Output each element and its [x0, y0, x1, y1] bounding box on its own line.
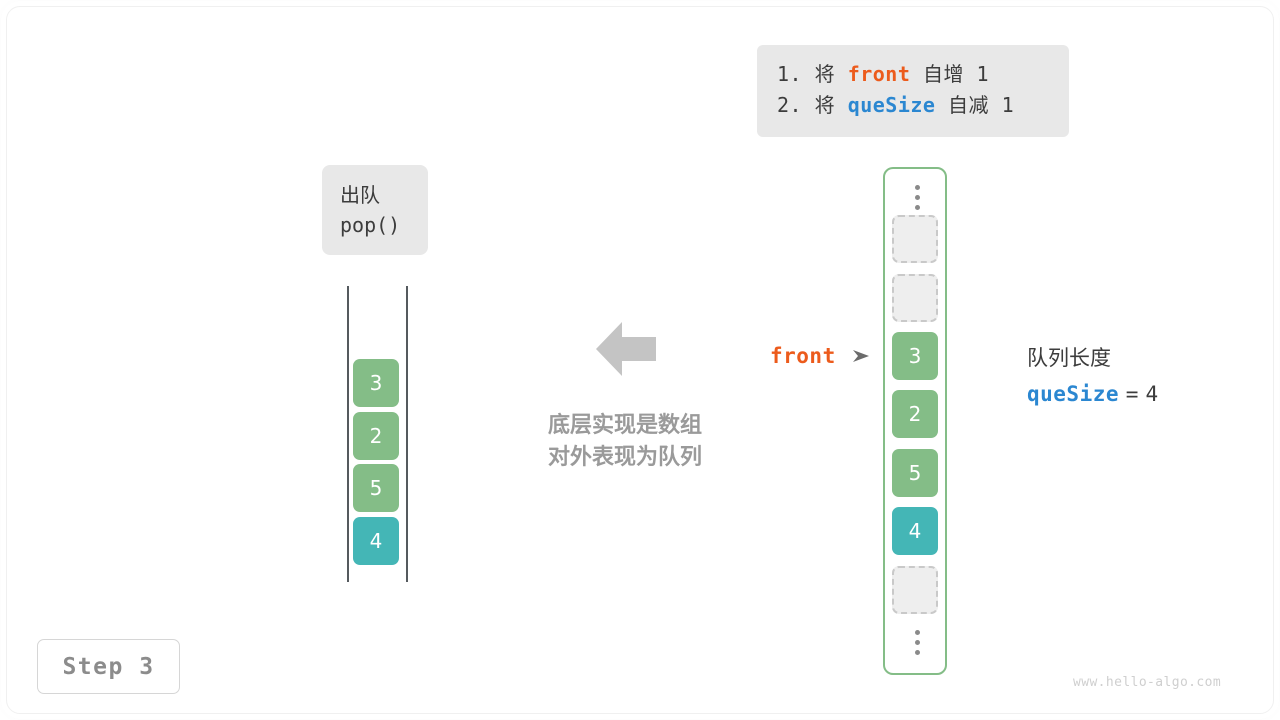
array-bottom-ellipsis-icon — [885, 630, 949, 655]
queue-cell-2-value: 5 — [370, 476, 383, 500]
array-container: 3 2 5 4 — [883, 167, 947, 675]
watermark: www.hello-algo.com — [1073, 675, 1221, 690]
array-cell-2: 3 — [892, 332, 938, 380]
instruction-2-before: 将 — [815, 93, 836, 117]
operation-label-box: 出队 pop() — [322, 165, 428, 255]
instruction-2-keyword: queSize — [848, 93, 936, 117]
queue-cell-1: 2 — [353, 412, 399, 460]
instruction-1-value: 1 — [977, 62, 990, 86]
diagram-canvas: 1. 将 front 自增 1 2. 将 queSize 自减 1 出队 pop… — [0, 0, 1280, 720]
instruction-1-before: 将 — [815, 62, 836, 86]
caption-line-1: 底层实现是数组 — [520, 410, 730, 442]
instruction-2-after: 自减 — [948, 93, 989, 117]
array-cell-3-value: 2 — [909, 402, 922, 426]
queue-size-expression: queSize = 4 — [1027, 377, 1159, 413]
queue-rail-right — [406, 286, 408, 582]
queue-cell-0: 3 — [353, 359, 399, 407]
step-badge-label: Step 3 — [62, 654, 154, 680]
instruction-line-2: 2. 将 queSize 自减 1 — [777, 90, 1049, 121]
array-cell-1 — [892, 274, 938, 322]
array-cell-5-value: 4 — [909, 519, 922, 543]
queue-cell-3: 4 — [353, 517, 399, 565]
operation-method: pop() — [340, 210, 400, 240]
front-arrowhead-icon — [853, 349, 869, 363]
caption-line-2: 对外表现为队列 — [520, 442, 730, 474]
instruction-2-index: 2. — [777, 93, 802, 117]
array-cell-3: 2 — [892, 390, 938, 438]
array-cell-4-value: 5 — [909, 461, 922, 485]
queue-cell-0-value: 3 — [370, 371, 383, 395]
instruction-line-1: 1. 将 front 自增 1 — [777, 59, 1049, 90]
operation-title: 出队 — [340, 180, 380, 210]
queue-size-title: 队列长度 — [1027, 341, 1159, 377]
array-cell-2-value: 3 — [909, 344, 922, 368]
array-cell-5: 4 — [892, 507, 938, 555]
instruction-box: 1. 将 front 自增 1 2. 将 queSize 自减 1 — [757, 45, 1069, 137]
instruction-1-after: 自增 — [923, 62, 964, 86]
queue-size-equals: = — [1126, 382, 1139, 406]
array-top-ellipsis-icon — [885, 185, 949, 210]
queue-cell-2: 5 — [353, 464, 399, 512]
step-badge: Step 3 — [37, 639, 180, 694]
left-arrow-icon — [596, 320, 656, 378]
array-cell-4: 5 — [892, 449, 938, 497]
queue-size-variable: queSize — [1027, 382, 1119, 406]
queue-cell-3-value: 4 — [370, 529, 383, 553]
queue-size-value: 4 — [1146, 382, 1159, 406]
front-pointer-label: front — [770, 344, 836, 368]
diagram-caption: 底层实现是数组 对外表现为队列 — [520, 410, 730, 474]
queue-cell-1-value: 2 — [370, 424, 383, 448]
instruction-2-value: 1 — [1002, 93, 1015, 117]
array-cell-6 — [892, 566, 938, 614]
array-cell-0 — [892, 215, 938, 263]
queue-rail-left — [347, 286, 349, 582]
instruction-1-keyword: front — [848, 62, 911, 86]
queue-size-info: 队列长度 queSize = 4 — [1027, 341, 1159, 412]
instruction-1-index: 1. — [777, 62, 802, 86]
